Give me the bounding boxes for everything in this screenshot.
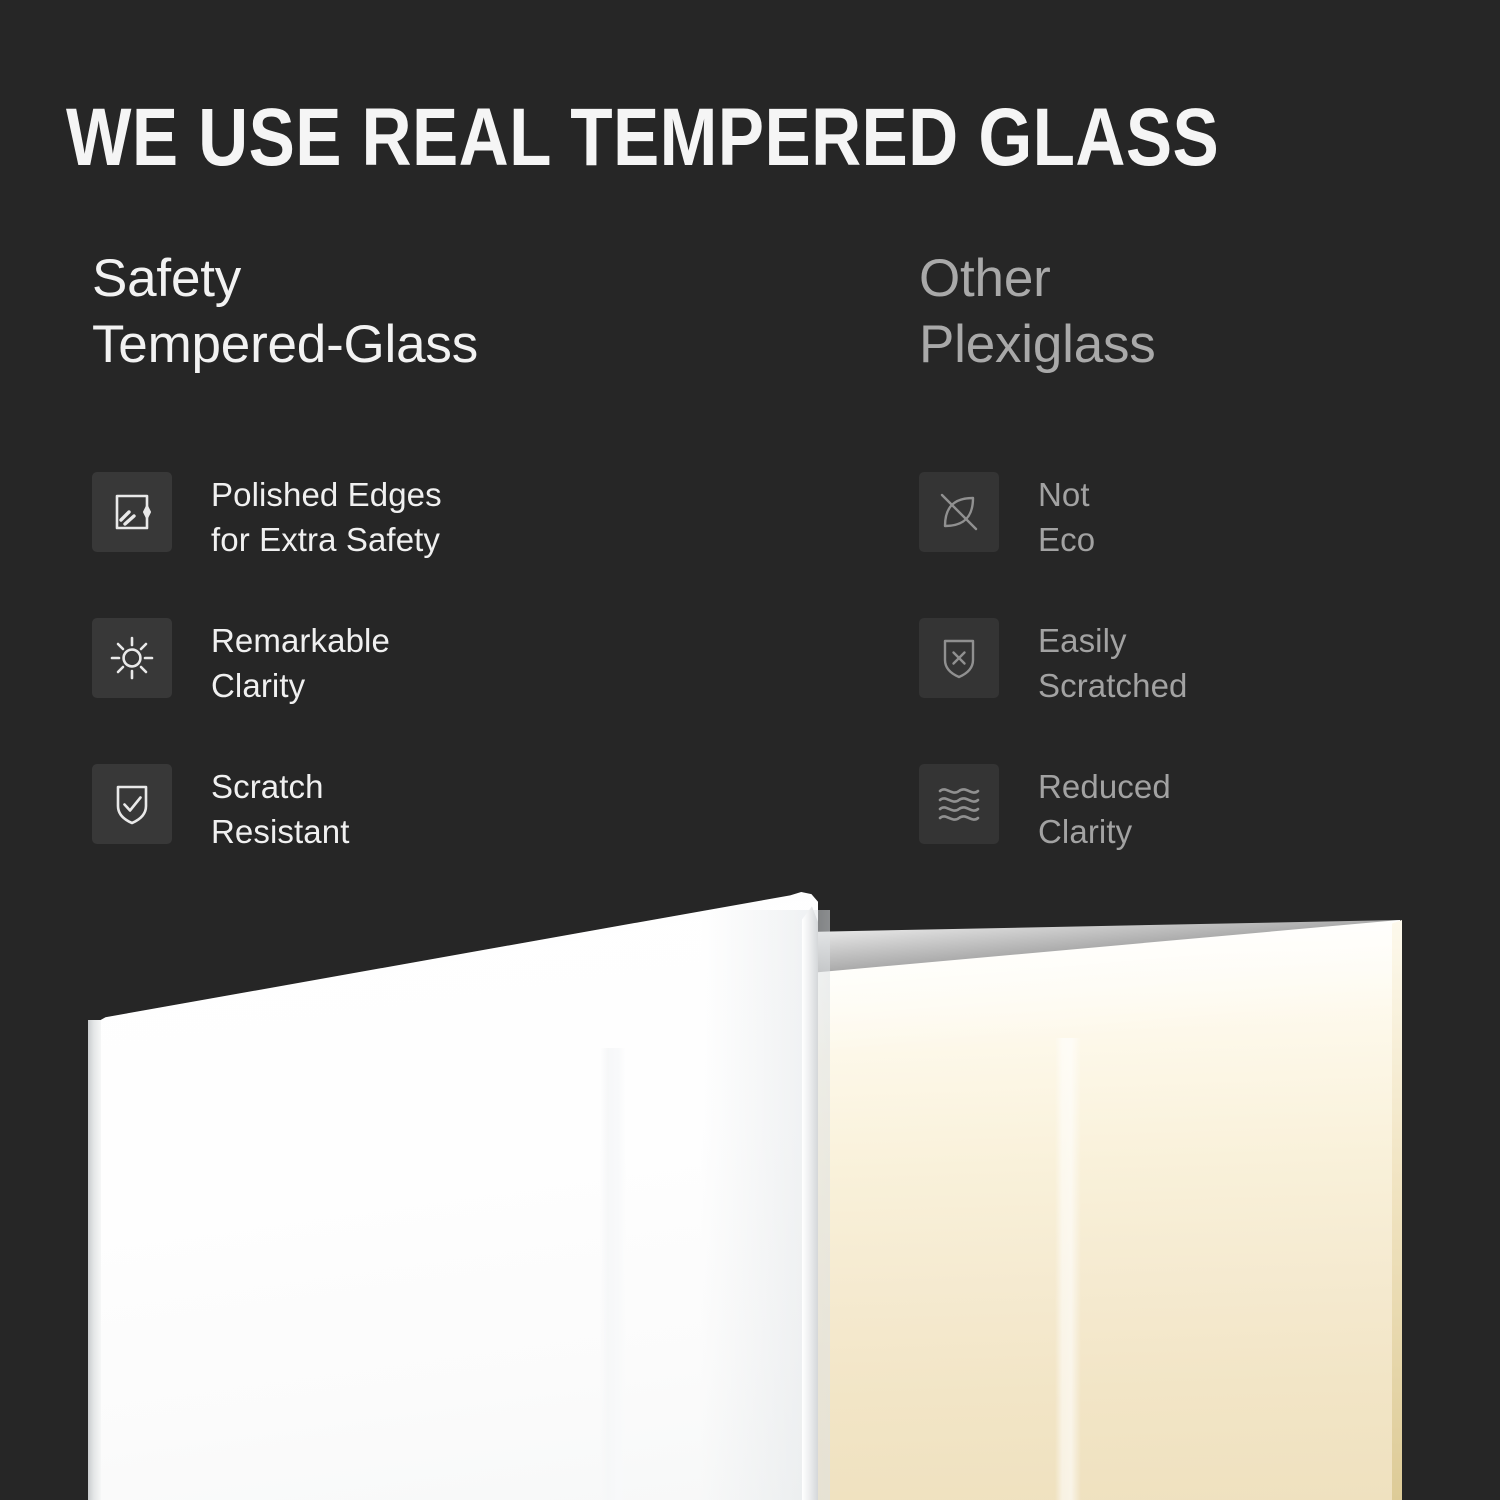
shield-check-icon [92, 764, 172, 844]
column-heading: Other Plexiglass [919, 246, 1479, 377]
feature-label: Polished Edges for Extra Safety [211, 470, 442, 563]
feature-list: Not Eco Easily Scratched [919, 470, 1479, 908]
feature-label: Remarkable Clarity [211, 616, 390, 709]
tempered-glass-reflection [600, 1048, 626, 1500]
column-safety-tempered-glass: Safety Tempered-Glass Polished Edges for… [92, 246, 792, 377]
tempered-glass-right-bevel [802, 904, 818, 1500]
wavy-lines-icon [919, 764, 999, 844]
no-eco-leaf-icon [919, 472, 999, 552]
feature-item: Remarkable Clarity [92, 616, 792, 762]
feature-label: Not Eco [1038, 470, 1095, 563]
tempered-glass-panel [88, 892, 818, 1500]
infographic-root: WE USE REAL TEMPERED GLASS Safety Temper… [0, 0, 1500, 1500]
plexiglass-reflection [1055, 1038, 1081, 1500]
page-title: WE USE REAL TEMPERED GLASS [66, 97, 1232, 179]
feature-label: Reduced Clarity [1038, 762, 1171, 855]
shield-cross-icon [919, 618, 999, 698]
column-other-plexiglass: Other Plexiglass Not Eco [919, 246, 1479, 377]
feature-item: Polished Edges for Extra Safety [92, 470, 792, 616]
tempered-glass-left-bevel [88, 1020, 101, 1500]
feature-label: Easily Scratched [1038, 616, 1187, 709]
feature-item: Easily Scratched [919, 616, 1479, 762]
polished-edges-icon [92, 472, 172, 552]
plexiglass-right-edge [1392, 920, 1402, 1500]
plexiglass-top-highlight [818, 920, 1400, 1050]
feature-label: Scratch Resistant [211, 762, 349, 855]
product-comparison-image [0, 880, 1500, 1500]
column-heading: Safety Tempered-Glass [92, 246, 792, 377]
feature-item: Not Eco [919, 470, 1479, 616]
feature-list: Polished Edges for Extra Safety Remarkab… [92, 470, 792, 908]
sun-clarity-icon [92, 618, 172, 698]
